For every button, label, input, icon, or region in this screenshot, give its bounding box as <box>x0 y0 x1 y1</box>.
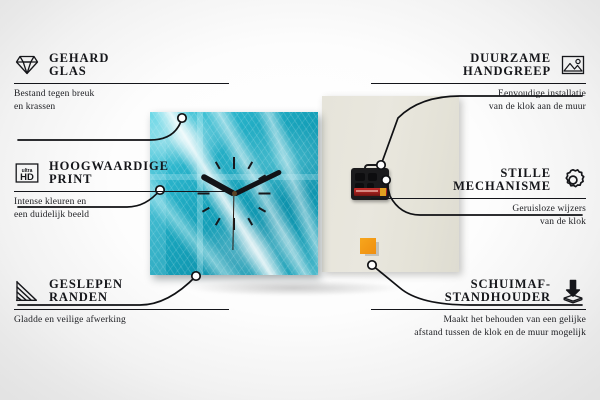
feature-gehard-glas[interactable]: GEHARD GLAS Bestand tegen breuk en krass… <box>14 52 229 114</box>
title-line-2: GLAS <box>49 65 109 78</box>
svg-text:HD: HD <box>20 172 34 183</box>
feature-subtitle: Bestand tegen breuk en krassen <box>14 88 229 114</box>
feature-divider <box>371 198 586 199</box>
title-line-2: PRINT <box>49 173 169 186</box>
feature-divider <box>371 83 586 84</box>
feature-subtitle: Intense kleuren en een duidelijk beeld <box>14 196 229 222</box>
feature-schuimaf-standhouder[interactable]: SCHUIMAF- STANDHOUDER Maakt het behouden… <box>371 278 586 340</box>
ultra-hd-icon: ultra HD <box>14 160 40 186</box>
feature-header: GESLEPEN RANDEN <box>14 278 229 304</box>
title-line-2: HANDGREEP <box>463 65 551 78</box>
feature-divider <box>371 309 586 310</box>
feature-subtitle: Geruisloze wijzers van de klok <box>371 203 586 229</box>
feature-header: ultra HD HOOGWAARDIGE PRINT <box>14 160 229 186</box>
feature-title: HOOGWAARDIGE PRINT <box>49 160 169 186</box>
gear-icon <box>560 167 586 193</box>
feature-duurzame-handgreep[interactable]: DUURZAME HANDGREEP Eenvoudige installati… <box>371 52 586 114</box>
infographic-canvas: GEHARD GLAS Bestand tegen breuk en krass… <box>0 0 600 400</box>
connector-endpoint-schuimaf-standhouder <box>368 261 376 269</box>
diamond-icon <box>14 52 40 78</box>
title-line-2: STANDHOUDER <box>445 291 551 304</box>
feature-subtitle: Maakt het behouden van een gelijke afsta… <box>371 314 586 340</box>
feature-title: DUURZAME HANDGREEP <box>463 52 551 78</box>
feature-header: DUURZAME HANDGREEP <box>371 52 586 78</box>
feature-divider <box>14 309 229 310</box>
down-arrow-pad-icon <box>560 278 586 304</box>
feature-hoogwaardige-print[interactable]: ultra HD HOOGWAARDIGE PRINT Intense kleu… <box>14 160 229 222</box>
feature-stille-mechanisme[interactable]: STILLE MECHANISME Geruisloze wijzers van… <box>371 167 586 229</box>
beveled-edges-icon <box>14 278 40 304</box>
title-line-2: MECHANISME <box>453 180 551 193</box>
feature-title: SCHUIMAF- STANDHOUDER <box>445 278 551 304</box>
feature-divider <box>14 191 229 192</box>
feature-subtitle: Eenvoudige installatie van de klok aan d… <box>371 88 586 114</box>
feature-header: STILLE MECHANISME <box>371 167 586 193</box>
feature-geslepen-randen[interactable]: GESLEPEN RANDEN Gladde en veilige afwerk… <box>14 278 229 327</box>
feature-title: GESLEPEN RANDEN <box>49 278 123 304</box>
feature-header: GEHARD GLAS <box>14 52 229 78</box>
feature-subtitle: Gladde en veilige afwerking <box>14 314 229 327</box>
picture-frame-icon <box>560 52 586 78</box>
feature-title: GEHARD GLAS <box>49 52 109 78</box>
feature-divider <box>14 83 229 84</box>
connector-gehard-glas <box>18 118 182 140</box>
feature-header: SCHUIMAF- STANDHOUDER <box>371 278 586 304</box>
title-line-2: RANDEN <box>49 291 123 304</box>
feature-title: STILLE MECHANISME <box>453 167 551 193</box>
connector-endpoint-gehard-glas <box>178 114 186 122</box>
